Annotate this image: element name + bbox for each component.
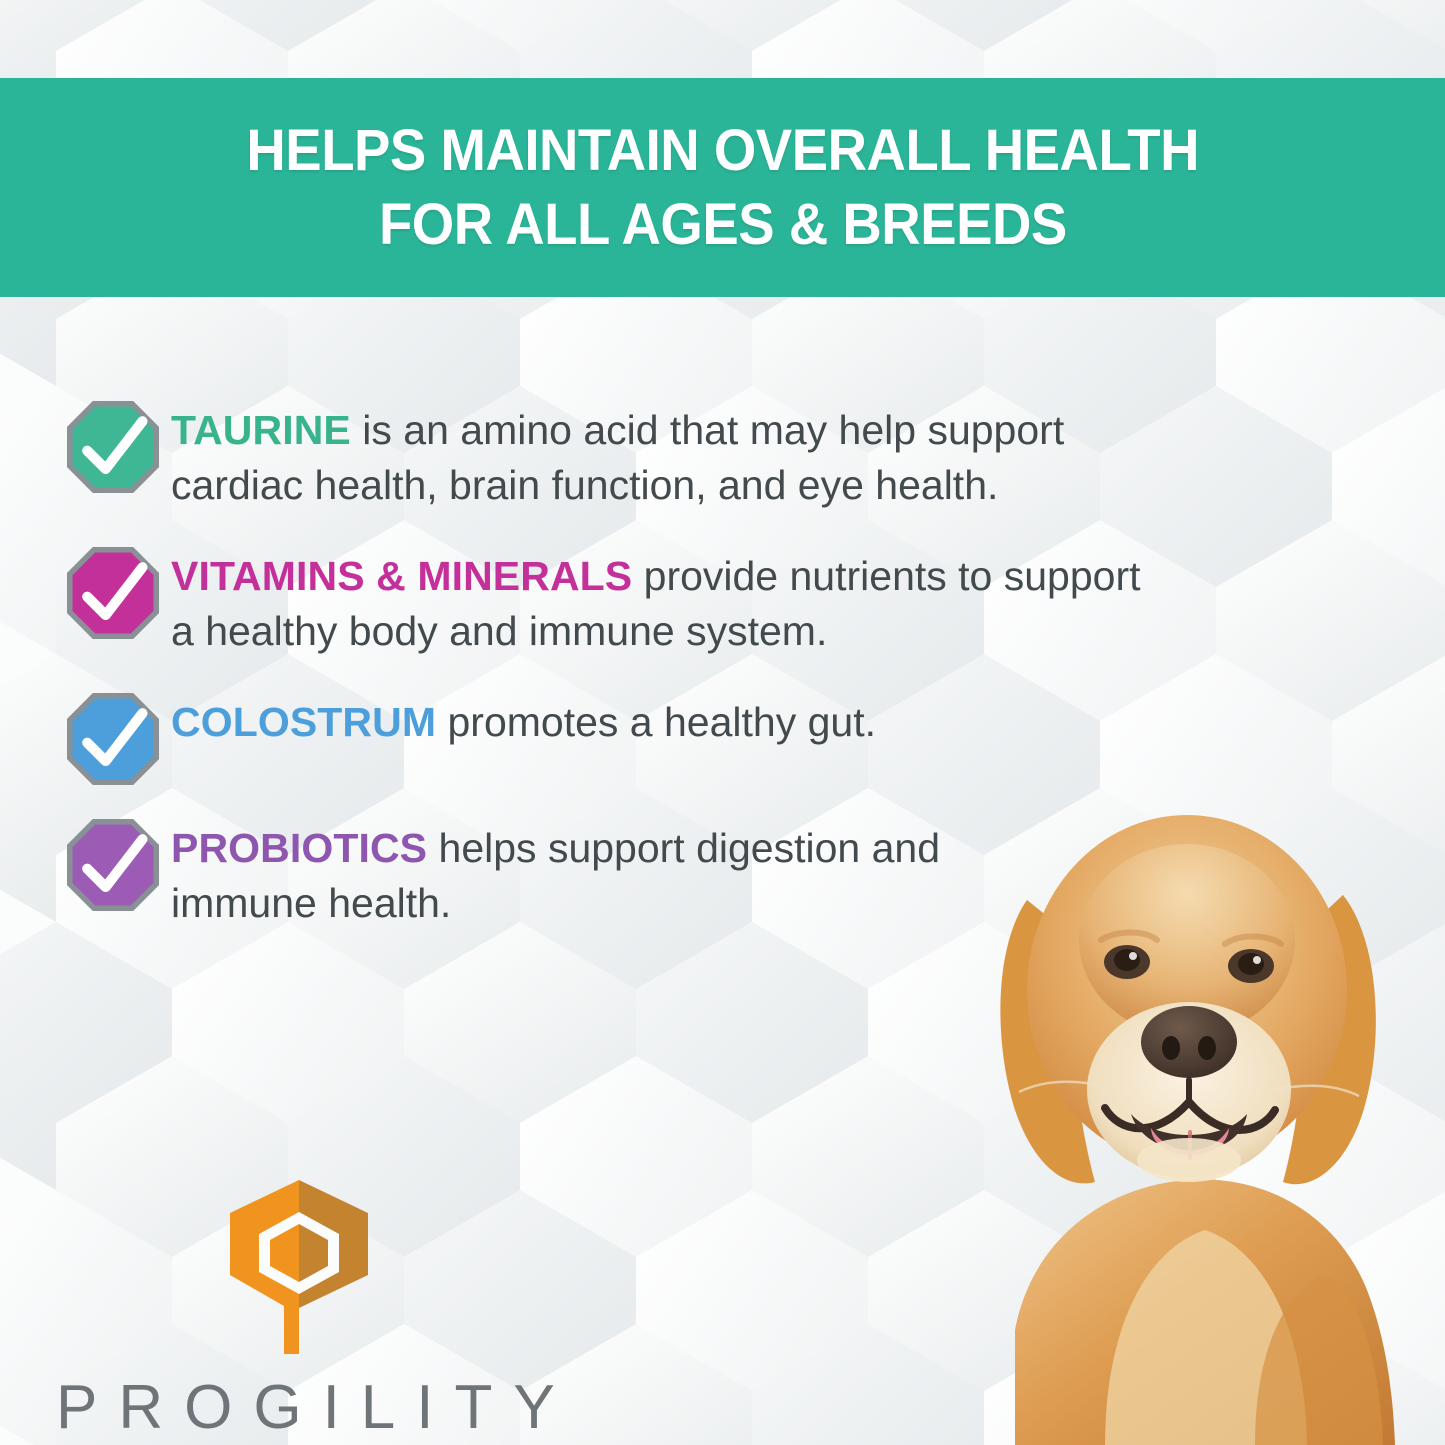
benefit-keyword: TAURINE (171, 407, 351, 453)
benefit-text: PROBIOTICS helps support digestion and i… (171, 813, 961, 931)
benefits-list: TAURINE is an amino acid that may help s… (0, 395, 1230, 959)
benefit-item-vitamins-minerals: VITAMINS & MINERALS provide nutrients to… (0, 541, 1230, 659)
benefit-item-taurine: TAURINE is an amino acid that may help s… (0, 395, 1230, 513)
banner-headline-line-2: FOR ALL AGES & BREEDS (379, 188, 1067, 262)
benefit-keyword: PROBIOTICS (171, 825, 427, 871)
benefit-text: COLOSTRUM promotes a healthy gut. (171, 687, 1171, 750)
check-octagon-icon (67, 547, 159, 639)
check-octagon-icon (67, 401, 159, 493)
benefit-text: TAURINE is an amino acid that may help s… (171, 395, 1191, 513)
wordmark-text: PROGILITY (56, 1373, 576, 1442)
header-banner: HELPS MAINTAIN OVERALL HEALTH FOR ALL AG… (0, 78, 1445, 297)
banner-headline-line-1: HELPS MAINTAIN OVERALL HEALTH (246, 114, 1199, 188)
benefit-keyword: COLOSTRUM (171, 699, 436, 745)
check-octagon-icon (67, 693, 159, 785)
progility-wordmark: PROGILITY (56, 1372, 576, 1443)
check-octagon-icon (67, 819, 159, 911)
infographic-page: HELPS MAINTAIN OVERALL HEALTH FOR ALL AG… (0, 0, 1445, 1445)
benefit-item-colostrum: COLOSTRUM promotes a healthy gut. (0, 687, 1230, 785)
benefit-keyword: VITAMINS & MINERALS (171, 553, 632, 599)
benefit-item-probiotics: PROBIOTICS helps support digestion and i… (0, 813, 1230, 931)
benefit-body: promotes a healthy gut. (436, 699, 876, 745)
progility-hexagon-p-icon (226, 1176, 372, 1358)
benefit-text: VITAMINS & MINERALS provide nutrients to… (171, 541, 1151, 659)
